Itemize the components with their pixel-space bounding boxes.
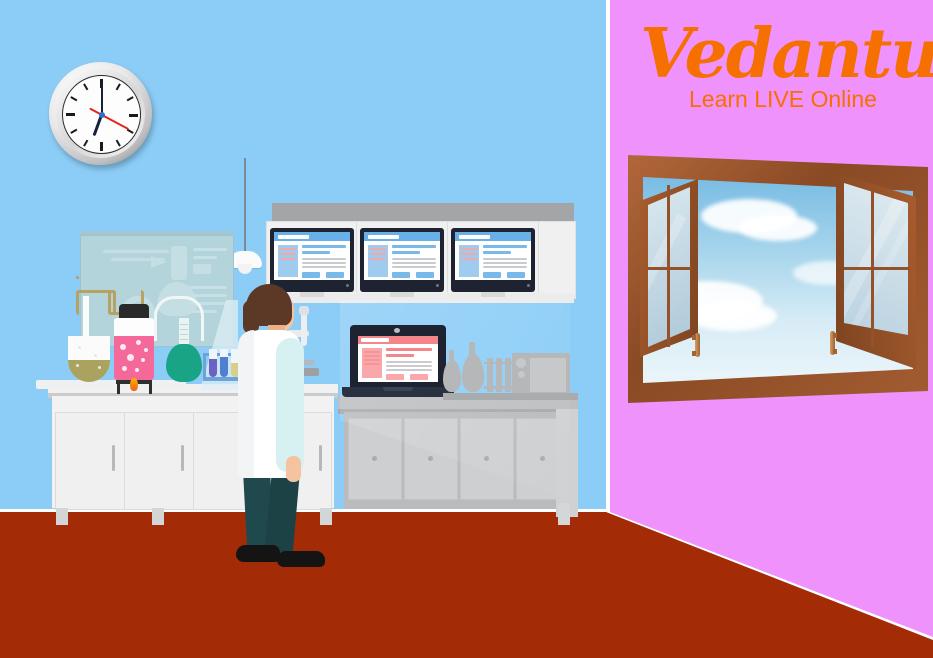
lab-scene: Vedantu Learn LIVE Online (0, 0, 933, 658)
cabinet-knob (428, 456, 433, 461)
grey-counter-shelf (443, 393, 578, 400)
grey-tube-rack-bar (484, 386, 514, 389)
wall-clock (49, 62, 152, 165)
grey-flask-neck (469, 342, 475, 356)
clock-minute-hand (101, 85, 103, 115)
window-mullion-vertical-left (667, 185, 670, 347)
grey-flask (443, 360, 461, 392)
lamp-cord (244, 158, 246, 256)
burner-leg (117, 382, 120, 394)
open-window[interactable] (628, 155, 928, 403)
vedantu-logo: Vedantu Learn LIVE Online (640, 16, 926, 128)
window-mullion-horizontal-right (844, 267, 910, 270)
scientist-arm (276, 338, 304, 472)
condenser-coil-tube (76, 276, 79, 295)
clock-center-pin (99, 112, 105, 118)
grey-tube-rack-bar (484, 362, 514, 364)
wall-corner-seam (606, 0, 610, 514)
counter-leg (152, 508, 164, 525)
cabinet-handle (181, 445, 184, 471)
scientist-shoe-front (277, 551, 325, 567)
logo-wordmark: Vedantu (640, 16, 926, 92)
laptop-page-header (358, 336, 438, 344)
test-tube (220, 349, 228, 377)
monitor-3-stand (481, 292, 505, 297)
window-handle-base-left (692, 335, 696, 340)
monitor-1[interactable] (270, 228, 354, 292)
equipment-base-plate (36, 380, 186, 389)
window-handle-base-left (692, 351, 696, 356)
laptop-trackpad-notch (383, 387, 413, 391)
laptop-camera-icon (394, 328, 400, 333)
lab-oven-dial[interactable] (516, 358, 526, 368)
microscope-tube (301, 312, 307, 346)
graduated-conical-flask (166, 318, 202, 382)
monitor-3[interactable] (451, 228, 535, 292)
lab-oven-indicator (518, 371, 525, 378)
jar-liquid (114, 336, 154, 380)
scientist-hand (286, 456, 301, 482)
cabinet-handle (112, 445, 115, 471)
flask-liquid (166, 344, 202, 382)
clock-face (62, 75, 141, 154)
cabinet-handle (319, 445, 322, 471)
scientist-lab-coat-shadow (238, 330, 254, 478)
laptop-screen[interactable] (358, 336, 438, 382)
round-bottom-flask (68, 336, 110, 382)
scientist-shoe-back (236, 545, 280, 562)
test-tube (209, 349, 217, 377)
microscope-eyepiece (299, 306, 309, 315)
boiling-jar (114, 318, 154, 380)
shelf-band (272, 203, 574, 221)
monitor-1-stand (300, 292, 324, 297)
flame-icon (130, 378, 138, 391)
cloud-icon (687, 301, 777, 331)
burner-leg (149, 382, 152, 394)
lab-oven-window (530, 358, 566, 392)
window-mullion-horizontal-left (648, 267, 692, 270)
scientist-hair (246, 284, 292, 326)
counter-leg (320, 508, 332, 525)
window-handle-base-right (833, 333, 837, 338)
cloud-icon (739, 215, 817, 241)
monitor-2[interactable] (360, 228, 444, 292)
monitor-2-stand (390, 292, 414, 297)
counter-leg (56, 508, 68, 525)
counter-leg (558, 503, 570, 525)
cabinet-knob (372, 456, 377, 461)
flask-liquid (68, 360, 110, 382)
grey-flask-neck (449, 350, 454, 362)
window-handle-base-right (833, 349, 837, 354)
